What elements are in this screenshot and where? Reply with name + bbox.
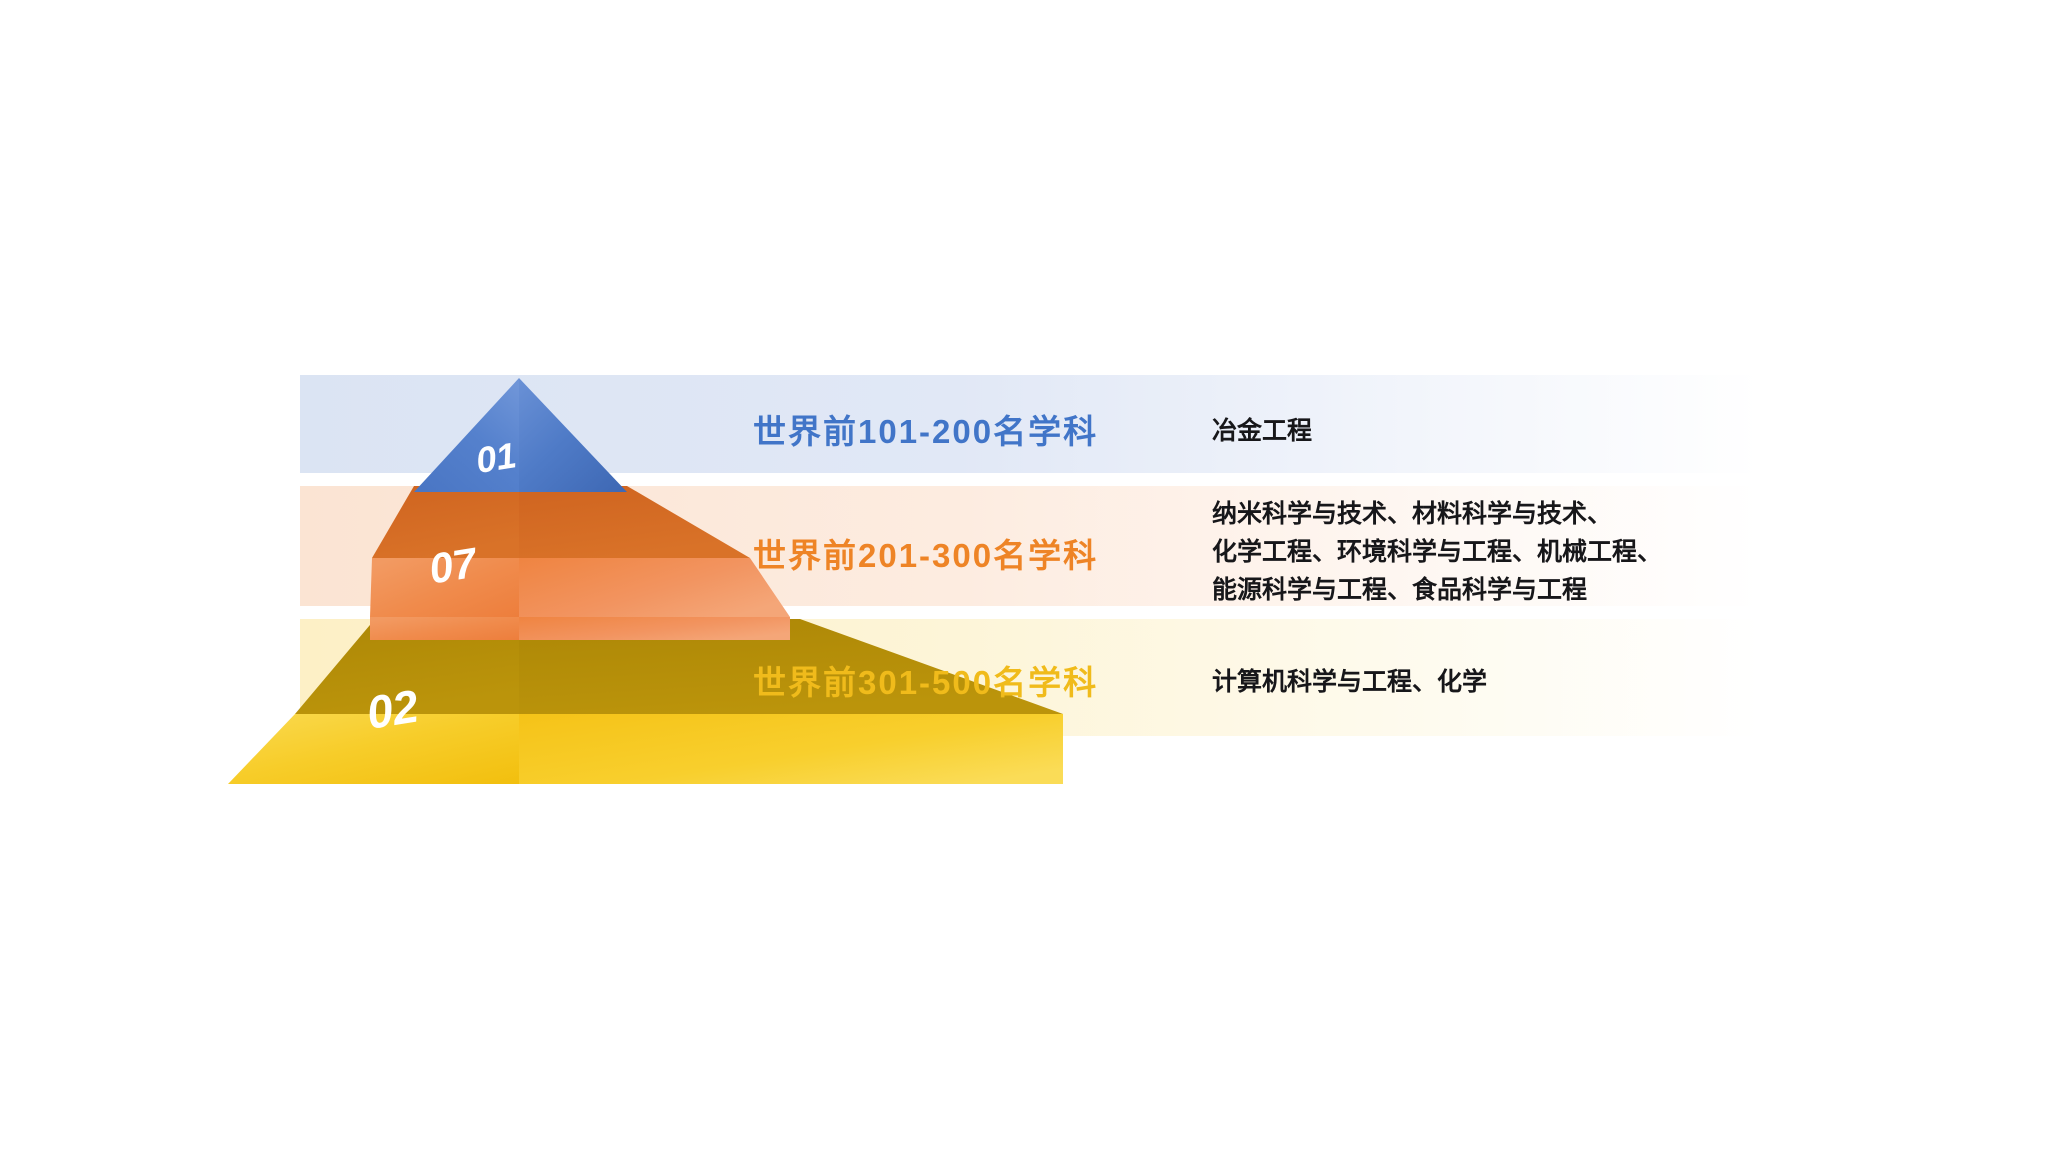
infographic-canvas: 02 07 01 世界前101-200名学科 冶: [0, 0, 2048, 1152]
tier-1-number: 01: [473, 434, 519, 481]
tier-2-foot-left: [370, 617, 519, 640]
tier-2-wall-right: [519, 558, 790, 617]
tier-1-rank-label: 世界前101-200名学科: [753, 405, 1098, 453]
tier-3-number: 02: [363, 679, 422, 738]
tier-1-subjects: 冶金工程: [1212, 412, 1312, 450]
tier-2-rank-label: 世界前201-300名学科: [753, 529, 1098, 577]
tier-2-subjects: 纳米科学与技术、材料科学与技术、 化学工程、环境科学与工程、机械工程、 能源科学…: [1212, 495, 1662, 609]
tier-3-rank-label: 世界前301-500名学科: [753, 656, 1098, 704]
tier-2-foot-right: [519, 617, 790, 640]
tier-2-number: 07: [426, 539, 481, 593]
tier-3-front-right-face: [519, 714, 1063, 784]
tier-3-subjects: 计算机科学与工程、化学: [1212, 663, 1487, 701]
